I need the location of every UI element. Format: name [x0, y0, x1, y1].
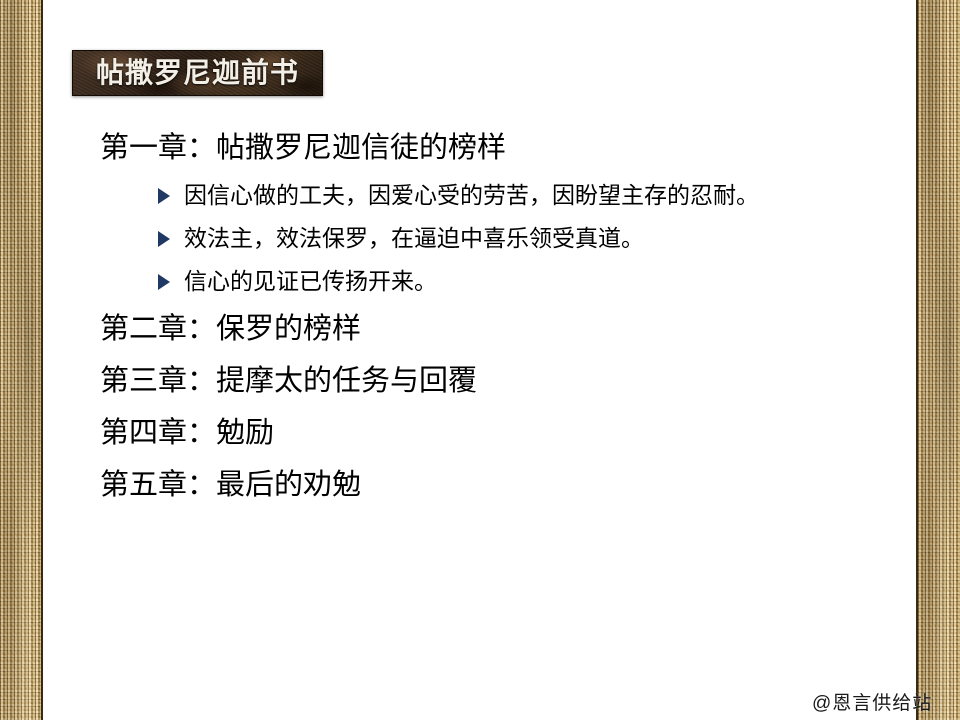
page-title: 帖撒罗尼迦前书: [96, 59, 299, 87]
outline-item-chapter-2: 第二章：保罗的榜样: [100, 303, 900, 355]
watermark-label: @恩言供给站: [812, 688, 932, 715]
slide-canvas: 帖撒罗尼迦前书 第一章：帖撒罗尼迦信徒的榜样 因信心做的工夫，因爱心受的劳苦，因…: [0, 0, 960, 720]
woven-border-right: [916, 0, 960, 720]
chapter-title: 最后的劝勉: [216, 469, 361, 501]
chapter-title: 勉励: [216, 417, 274, 449]
chapter-title: 提摩太的任务与回覆: [216, 365, 477, 397]
bullet-text: 效法主，效法保罗，在逼迫中喜乐领受真道。: [184, 217, 644, 260]
chapter-separator: ：: [187, 365, 216, 397]
chapter-label: 第五章: [100, 469, 187, 501]
chapter-separator: ：: [187, 313, 216, 345]
chapter-title: 帖撒罗尼迦信徒的榜样: [216, 132, 506, 164]
triangle-bullet-icon: [158, 231, 170, 247]
outline-item-chapter-5: 第五章：最后的劝勉: [100, 459, 900, 511]
outline-list: 第一章：帖撒罗尼迦信徒的榜样 因信心做的工夫，因爱心受的劳苦，因盼望主存的忍耐。…: [100, 122, 900, 511]
chapter-label: 第三章: [100, 365, 187, 397]
outline-item-chapter-4: 第四章：勉励: [100, 407, 900, 459]
chapter-separator: ：: [187, 417, 216, 449]
woven-border-left: [0, 0, 43, 720]
title-plaque: 帖撒罗尼迦前书: [72, 50, 323, 96]
bullet-text: 信心的见证已传扬开来。: [184, 260, 437, 303]
chapter-1-bullet-list: 因信心做的工夫，因爱心受的劳苦，因盼望主存的忍耐。 效法主，效法保罗，在逼迫中喜…: [100, 174, 900, 303]
bullet-text: 因信心做的工夫，因爱心受的劳苦，因盼望主存的忍耐。: [184, 174, 759, 217]
triangle-bullet-icon: [158, 188, 170, 204]
chapter-label: 第一章: [100, 132, 187, 164]
list-item: 因信心做的工夫，因爱心受的劳苦，因盼望主存的忍耐。: [100, 174, 900, 217]
outline-item-chapter-1: 第一章：帖撒罗尼迦信徒的榜样: [100, 122, 900, 174]
outline-item-chapter-3: 第三章：提摩太的任务与回覆: [100, 355, 900, 407]
list-item: 信心的见证已传扬开来。: [100, 260, 900, 303]
chapter-title: 保罗的榜样: [216, 313, 361, 345]
chapter-label: 第二章: [100, 313, 187, 345]
chapter-separator: ：: [187, 132, 216, 164]
chapter-separator: ：: [187, 469, 216, 501]
chapter-label: 第四章: [100, 417, 187, 449]
triangle-bullet-icon: [158, 274, 170, 290]
list-item: 效法主，效法保罗，在逼迫中喜乐领受真道。: [100, 217, 900, 260]
